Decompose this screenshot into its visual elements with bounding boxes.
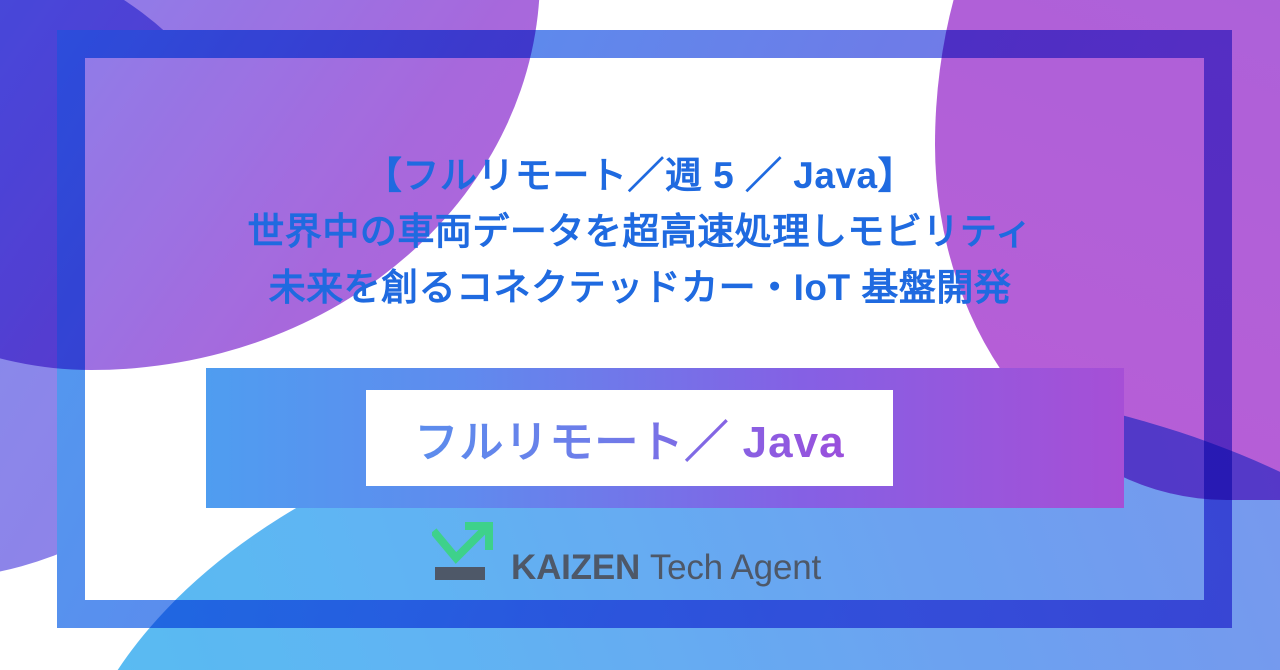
headline: 【フルリモート／週 5 ／ Java】 世界中の車両データを超高速処理しモビリテ… — [0, 148, 1280, 316]
badge-box: フルリモート／ Java — [366, 390, 893, 486]
headline-line-3: 未来を創るコネクテッドカー・IoT 基盤開発 — [0, 260, 1280, 316]
brand-name: KAIZEN Tech Agent — [511, 548, 821, 588]
brand-name-secondary: Tech Agent — [650, 548, 821, 587]
badge-text: フルリモート／ Java — [414, 406, 844, 470]
headline-line-1: 【フルリモート／週 5 ／ Java】 — [0, 148, 1280, 204]
poster-canvas: 【フルリモート／週 5 ／ Java】 世界中の車両データを超高速処理しモビリテ… — [0, 0, 1280, 670]
headline-line-2: 世界中の車両データを超高速処理しモビリティ — [0, 204, 1280, 260]
rising-arrow-icon — [432, 522, 498, 584]
brand-name-primary: KAIZEN — [511, 548, 640, 587]
brand-logo: KAIZEN Tech Agent — [432, 522, 821, 584]
